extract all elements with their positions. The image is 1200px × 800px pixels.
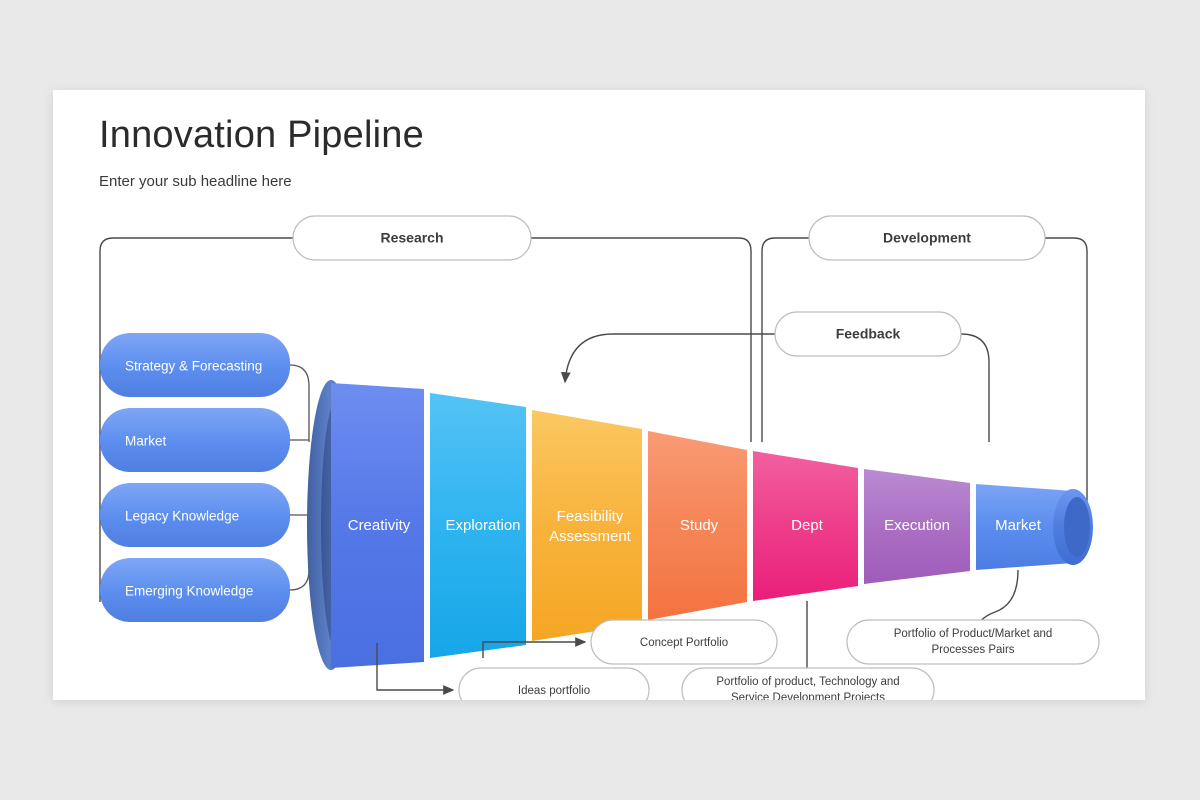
input-box-strategy-forecasting[interactable]: Strategy & Forecasting <box>100 333 290 397</box>
callout-label-1: Ideas portfolio <box>518 685 590 697</box>
phase-label-feedback: Feedback <box>836 326 901 342</box>
callout-product-tech-portfolio[interactable]: Portfolio of product, Technology and Ser… <box>682 668 934 700</box>
callout-product-market-portfolio[interactable]: Portfolio of Product/Market and Processe… <box>847 620 1099 664</box>
phase-label-development: Development <box>883 230 971 246</box>
phase-label-research: Research <box>380 230 443 246</box>
input-label-3: Emerging Knowledge <box>125 584 253 599</box>
innovation-pipeline-diagram: Strategy & Forecasting Market Legacy Kno… <box>53 90 1145 700</box>
connector-input-3 <box>290 520 309 590</box>
callout-label-3b: Processes Pairs <box>931 644 1014 656</box>
input-box-emerging-knowledge[interactable]: Emerging Knowledge <box>100 558 290 622</box>
callout-ideas-portfolio[interactable]: Ideas portfolio <box>459 668 649 700</box>
phase-pill-development[interactable]: Development <box>809 216 1045 260</box>
input-label-1: Market <box>125 434 167 449</box>
funnel-stage-market[interactable]: Market <box>976 484 1093 570</box>
stage-label-2b: Assessment <box>549 528 632 545</box>
phase-pills: Research Development Feedback <box>293 216 1045 356</box>
stage-label-1: Exploration <box>445 517 520 534</box>
connector-feedback-right <box>961 334 989 442</box>
input-box-market[interactable]: Market <box>100 408 290 472</box>
funnel-stage-feasibility-assessment[interactable]: Feasibility Assessment <box>532 410 642 641</box>
connector-research-right <box>531 238 751 442</box>
phase-pill-research[interactable]: Research <box>293 216 531 260</box>
stage-label-6: Market <box>995 517 1042 534</box>
input-label-2: Legacy Knowledge <box>125 509 239 524</box>
callout-label-0: Concept Portfolio <box>640 637 728 649</box>
stage-label-3: Study <box>680 517 719 534</box>
funnel-stage-execution[interactable]: Execution <box>864 469 970 584</box>
callout-label-2: Portfolio of product, Technology and <box>716 676 899 688</box>
connector-feedback-arrow <box>565 334 713 382</box>
funnel-stage-dept[interactable]: Dept <box>753 451 858 601</box>
stage-label-0: Creativity <box>348 517 411 534</box>
callout-label-2b: Service Development Projects <box>731 692 885 700</box>
callout-concept-portfolio[interactable]: Concept Portfolio <box>591 620 777 664</box>
input-label-0: Strategy & Forecasting <box>125 359 262 374</box>
stage-label-5: Execution <box>884 517 950 534</box>
funnel-stage-creativity[interactable]: Creativity <box>331 383 424 668</box>
input-box-legacy-knowledge[interactable]: Legacy Knowledge <box>100 483 290 547</box>
phase-pill-feedback[interactable]: Feedback <box>775 312 961 356</box>
stage-label-4: Dept <box>791 517 824 534</box>
connector-input-0 <box>290 365 309 442</box>
stage-label-2: Feasibility <box>557 508 624 525</box>
funnel-stage-study[interactable]: Study <box>648 431 747 620</box>
callout-label-3: Portfolio of Product/Market and <box>894 628 1053 640</box>
input-sources: Strategy & Forecasting Market Legacy Kno… <box>100 333 309 622</box>
funnel-stage-exploration[interactable]: Exploration <box>430 393 526 658</box>
slide-card: Innovation Pipeline Enter your sub headl… <box>53 90 1145 700</box>
screenshot-root: Innovation Pipeline Enter your sub headl… <box>0 0 1200 800</box>
